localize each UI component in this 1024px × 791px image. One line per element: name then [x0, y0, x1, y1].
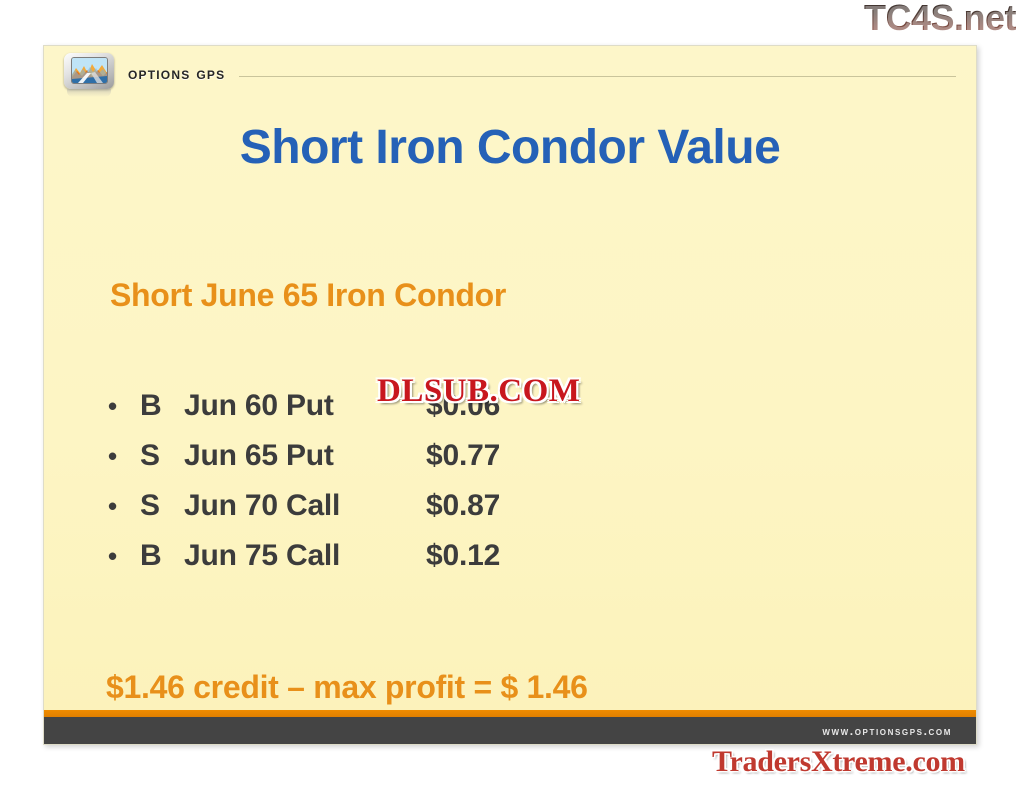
slide-footer: www.OptionsGPS.com [44, 717, 976, 744]
leg-description: Jun 65 Put [184, 439, 426, 473]
list-item: • B Jun 75 Call $0.12 [102, 539, 722, 589]
bullet-icon: • [102, 391, 140, 421]
bullet-icon: • [102, 491, 140, 521]
gps-device-icon [62, 51, 118, 97]
leg-action: B [140, 539, 184, 573]
page-title: Short Iron Condor Value [44, 120, 976, 176]
leg-price: $0.77 [426, 439, 500, 473]
leg-action: B [140, 389, 184, 423]
leg-action: S [140, 439, 184, 473]
footer-accent-stripe [44, 710, 976, 717]
list-item: • S Jun 65 Put $0.77 [102, 439, 722, 489]
leg-price: $0.87 [426, 489, 500, 523]
gps-map-graphic [72, 58, 107, 83]
slide-header: Options GPS [44, 46, 976, 102]
tradersxtreme-watermark: TradersXtreme.com [712, 745, 965, 779]
leg-action: S [140, 489, 184, 523]
credit-summary: $1.46 credit – max profit = $ 1.46 [106, 668, 588, 706]
bullet-icon: • [102, 541, 140, 571]
header-divider [239, 76, 956, 77]
dlsub-watermark: DLSUB.COM [372, 372, 585, 410]
gps-device-reflection [67, 89, 111, 97]
slide-subtitle: Short June 65 Iron Condor [110, 276, 506, 314]
bullet-icon: • [102, 441, 140, 471]
footer-url-label: www.OptionsGPS.com [822, 724, 952, 738]
option-legs-list: • B Jun 60 Put $0.06 • S Jun 65 Put $0.7… [102, 389, 722, 589]
brand-label: Options GPS [128, 64, 225, 84]
tc4s-watermark: TC4S.net [864, 0, 1016, 38]
gps-device-screen [71, 57, 108, 84]
leg-price: $0.12 [426, 539, 500, 573]
leg-description: Jun 70 Call [184, 489, 426, 523]
list-item: • S Jun 70 Call $0.87 [102, 489, 722, 539]
leg-description: Jun 75 Call [184, 539, 426, 573]
